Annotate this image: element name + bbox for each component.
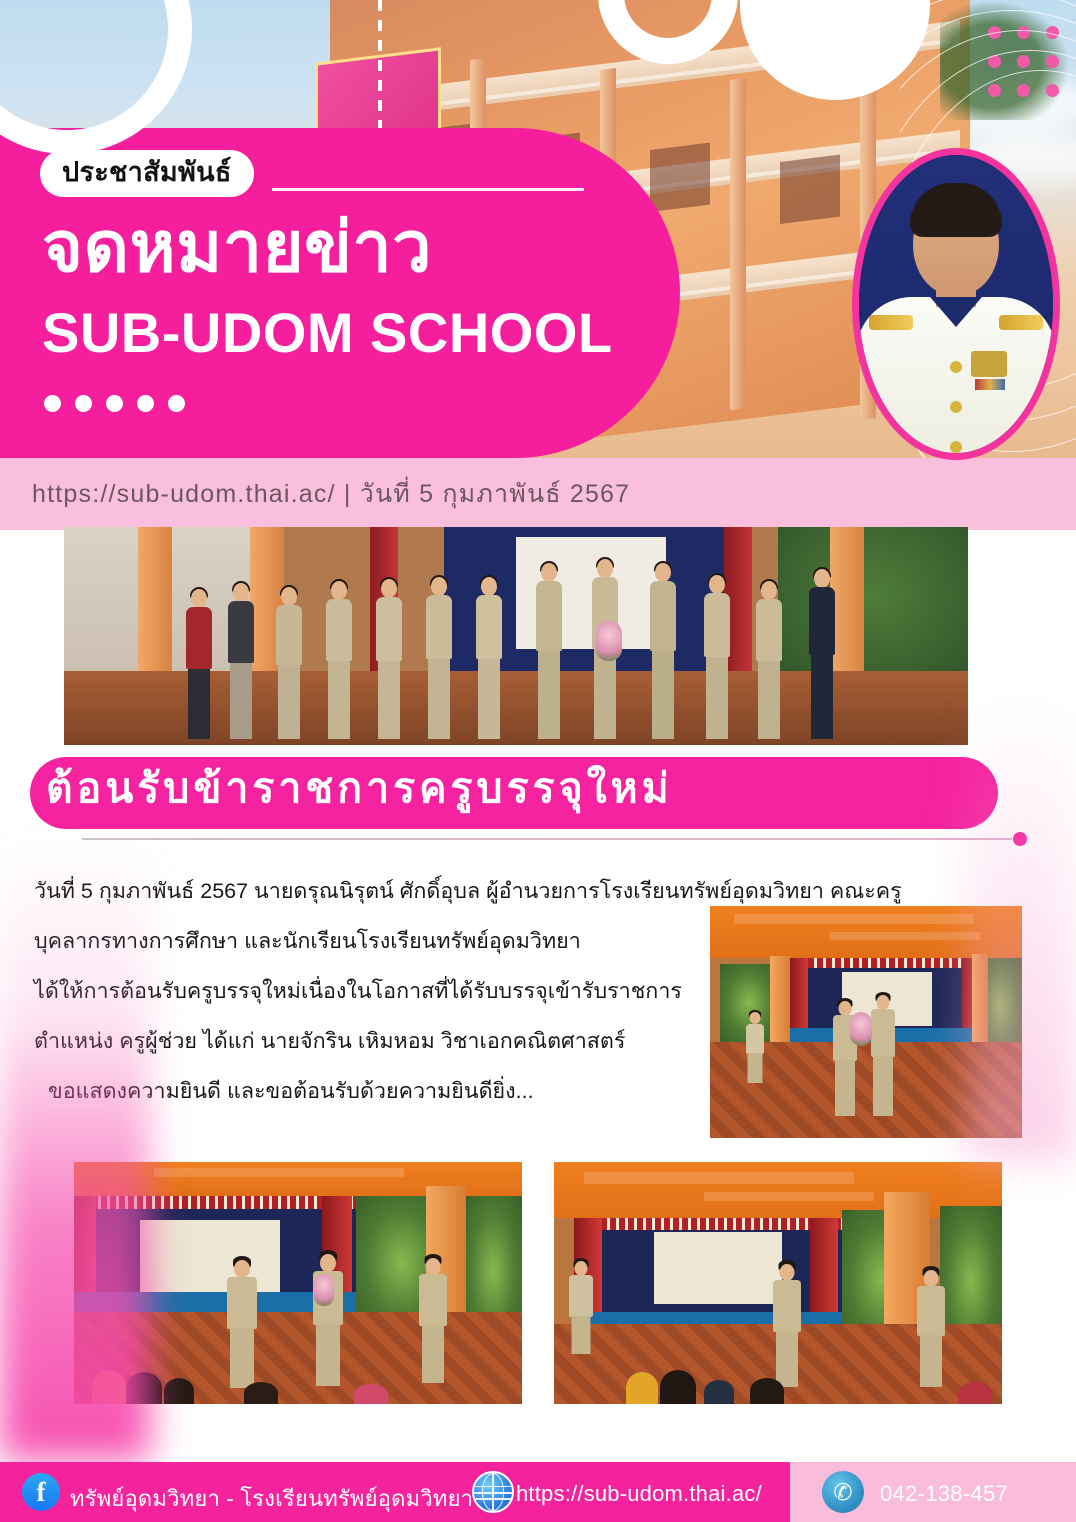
group-person [322, 581, 356, 739]
garland [314, 1274, 334, 1306]
section-banner-title: ต้อนรับข้าราชการครูบรรจุใหม่ [46, 768, 673, 809]
footer-bar: f ทรัพย์อุดมวิทยา - โรงเรียนทรัพย์อุดมวิ… [0, 1462, 1076, 1522]
photo-teacher-intro [554, 1162, 1002, 1404]
article-line: ได้ให้การต้อนรับครูบรรจุใหม่เนื่องในโอกา… [34, 966, 694, 1016]
group-person [182, 589, 216, 739]
student [704, 1380, 734, 1404]
header-section: ประชาสัมพันธ์ จดหมายข่าว SUB-UDOM SCHOOL… [0, 0, 1076, 530]
group-person [272, 587, 306, 739]
person-new-teacher [312, 1250, 344, 1384]
photo-stage-speech [74, 1162, 522, 1404]
student [92, 1370, 126, 1404]
person-teacher [568, 1258, 594, 1352]
facebook-page-label[interactable]: ทรัพย์อุดมวิทยา - โรงเรียนทรัพย์อุดมวิทย… [70, 1481, 473, 1516]
facebook-icon[interactable]: f [22, 1473, 60, 1511]
article-body: วันที่ 5 กุมภาพันธ์ 2567 นายดรุณนิรุตน์ … [34, 866, 694, 1116]
group-photo [64, 527, 968, 745]
student [958, 1382, 992, 1404]
group-person [644, 563, 682, 739]
group-person [372, 579, 406, 739]
article-line: ตำแหน่ง ครูผู้ช่วย ได้แก่ นายจักริน เหิม… [34, 1016, 694, 1066]
student [750, 1378, 784, 1404]
bouquet [596, 621, 622, 661]
decor-dot-row [44, 395, 185, 412]
announcement-badge: ประชาสัมพันธ์ [40, 150, 254, 197]
banner-end-dot [1013, 832, 1027, 846]
person-bystander [746, 1010, 764, 1082]
globe-icon[interactable] [472, 1471, 514, 1513]
article-line: บุคลากรทางการศึกษา และนักเรียนโรงเรียนทร… [34, 916, 694, 966]
student [626, 1372, 658, 1404]
student [354, 1384, 388, 1404]
group-person [422, 577, 456, 739]
photo-flower-handover [710, 906, 1022, 1138]
person-staff [916, 1266, 946, 1384]
badge-rule-line [272, 188, 584, 191]
group-person [224, 583, 258, 739]
student [244, 1382, 278, 1404]
phone-icon[interactable]: ✆ [822, 1471, 864, 1513]
group-person [530, 563, 568, 739]
director-portrait [852, 148, 1060, 460]
student [164, 1378, 194, 1404]
group-person [804, 569, 840, 739]
student [126, 1372, 162, 1404]
person-staff [418, 1254, 448, 1380]
group-person [472, 577, 506, 739]
person-new-teacher [870, 992, 896, 1116]
decor-dot-grid [988, 26, 1059, 97]
person-new-teacher [772, 1260, 802, 1384]
group-person [700, 575, 734, 739]
person-speaker [226, 1256, 258, 1384]
group-person [752, 581, 786, 739]
banner-underline [82, 838, 1012, 840]
bouquet [850, 1012, 872, 1046]
page-title-english: SUB-UDOM SCHOOL [42, 305, 613, 361]
page-title-thai: จดหมายข่าว [42, 212, 432, 282]
phone-number-label[interactable]: 042-138-457 [880, 1481, 1008, 1507]
student [660, 1370, 696, 1404]
article-line: ขอแสดงความยินดี และขอต้อนรับด้วยความยินด… [34, 1066, 694, 1116]
newsletter-page: ประชาสัมพันธ์ จดหมายข่าว SUB-UDOM SCHOOL… [0, 0, 1076, 1522]
article-line: วันที่ 5 กุมภาพันธ์ 2567 นายดรุณนิรุตน์ … [34, 866, 694, 916]
url-date-text: https://sub-udom.thai.ac/ | วันที่ 5 กุม… [32, 474, 630, 514]
website-url-label[interactable]: https://sub-udom.thai.ac/ [516, 1481, 762, 1507]
